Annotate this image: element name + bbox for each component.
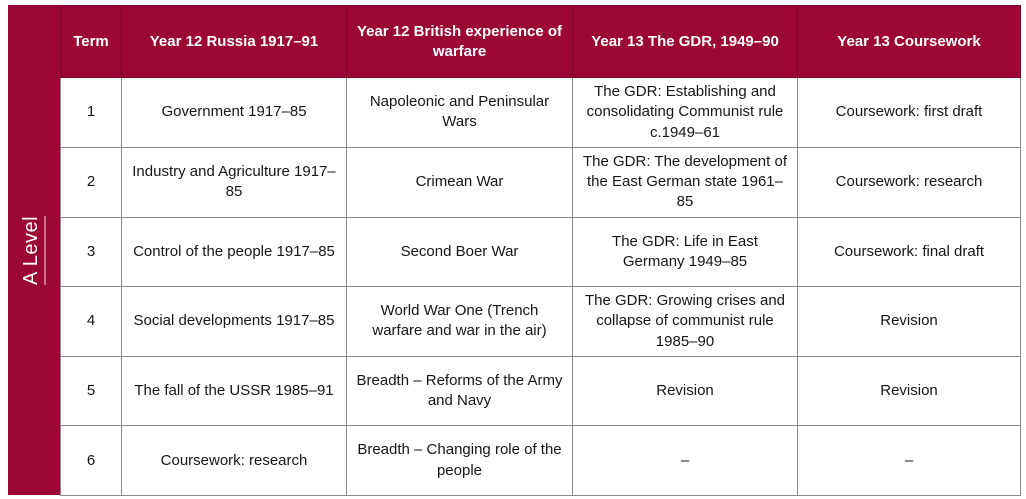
cell-british: World War One (Trench warfare and war in…: [347, 287, 573, 357]
cell-coursework: Revision: [798, 356, 1021, 426]
table-row: 5 The fall of the USSR 1985–91 Breadth –…: [61, 356, 1021, 426]
cell-british: Breadth – Changing role of the people: [347, 426, 573, 496]
table-row: 3 Control of the people 1917–85 Second B…: [61, 217, 1021, 287]
cell-gdr: The GDR: Life in East Germany 1949–85: [573, 217, 798, 287]
cell-coursework: Coursework: research: [798, 147, 1021, 217]
table-row: 2 Industry and Agriculture 1917–85 Crime…: [61, 147, 1021, 217]
column-header-term: Term: [61, 6, 122, 78]
table-row: 6 Coursework: research Breadth – Changin…: [61, 426, 1021, 496]
cell-term: 5: [61, 356, 122, 426]
cell-russia: The fall of the USSR 1985–91: [122, 356, 347, 426]
a-level-side-banner-label: A Level: [22, 215, 47, 284]
cell-coursework: Coursework: final draft: [798, 217, 1021, 287]
cell-russia: Coursework: research: [122, 426, 347, 496]
column-header-year13-coursework: Year 13 Coursework: [798, 6, 1021, 78]
a-level-side-banner: A Level: [8, 5, 60, 495]
cell-term: 2: [61, 147, 122, 217]
cell-gdr: The GDR: Growing crises and collapse of …: [573, 287, 798, 357]
cell-gdr: The GDR: The development of the East Ger…: [573, 147, 798, 217]
cell-term: 6: [61, 426, 122, 496]
cell-russia: Social developments 1917–85: [122, 287, 347, 357]
cell-coursework: –: [798, 426, 1021, 496]
cell-term: 3: [61, 217, 122, 287]
table-header-row: Term Year 12 Russia 1917–91 Year 12 Brit…: [61, 6, 1021, 78]
cell-british: Napoleonic and Peninsular Wars: [347, 78, 573, 148]
cell-british: Breadth – Reforms of the Army and Navy: [347, 356, 573, 426]
table-row: 1 Government 1917–85 Napoleonic and Peni…: [61, 78, 1021, 148]
curriculum-overview-table: A Level Term Year 12 Russia 1917–91 Year…: [0, 0, 1026, 499]
column-header-year12-british-warfare: Year 12 British experience of warfare: [347, 6, 573, 78]
cell-coursework: Coursework: first draft: [798, 78, 1021, 148]
cell-term: 4: [61, 287, 122, 357]
table-header: Term Year 12 Russia 1917–91 Year 12 Brit…: [61, 6, 1021, 78]
column-header-year12-russia: Year 12 Russia 1917–91: [122, 6, 347, 78]
table-body: 1 Government 1917–85 Napoleonic and Peni…: [61, 78, 1021, 496]
column-header-year13-gdr: Year 13 The GDR, 1949–90: [573, 6, 798, 78]
cell-british: Crimean War: [347, 147, 573, 217]
cell-british: Second Boer War: [347, 217, 573, 287]
cell-gdr: –: [573, 426, 798, 496]
table-row: 4 Social developments 1917–85 World War …: [61, 287, 1021, 357]
cell-term: 1: [61, 78, 122, 148]
cell-russia: Government 1917–85: [122, 78, 347, 148]
cell-russia: Control of the people 1917–85: [122, 217, 347, 287]
schedule-table: Term Year 12 Russia 1917–91 Year 12 Brit…: [60, 5, 1021, 496]
cell-russia: Industry and Agriculture 1917–85: [122, 147, 347, 217]
schedule-table-wrapper: Term Year 12 Russia 1917–91 Year 12 Brit…: [60, 5, 1020, 495]
cell-gdr: The GDR: Establishing and consolidating …: [573, 78, 798, 148]
cell-gdr: Revision: [573, 356, 798, 426]
cell-coursework: Revision: [798, 287, 1021, 357]
